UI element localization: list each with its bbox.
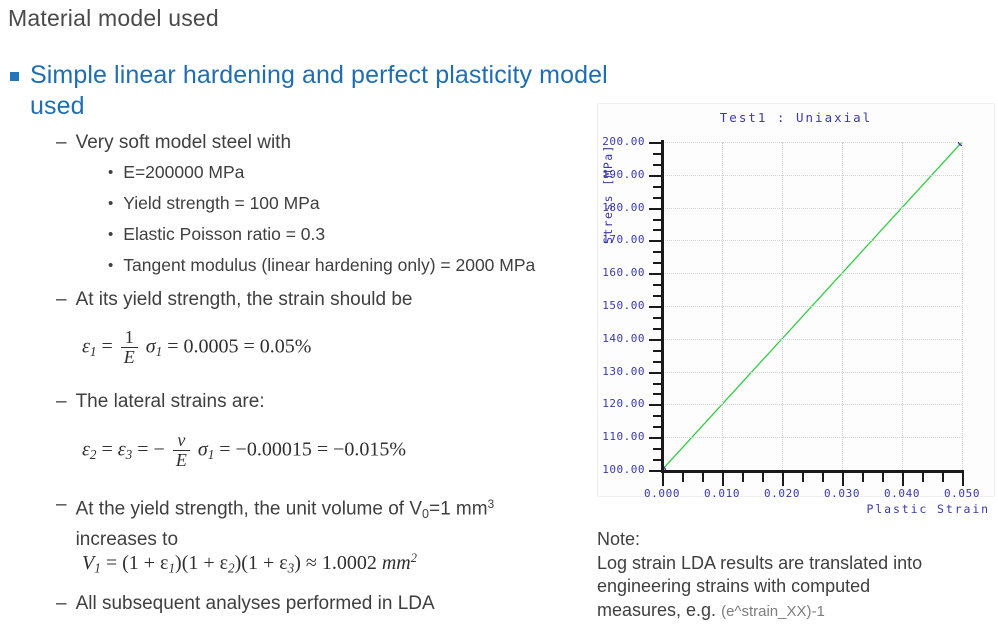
property-label: Tangent modulus (linear hardening only) … [123,254,535,277]
chart-y-tick-label: 170.00 [602,233,645,246]
chart-y-minor-tick [653,284,662,286]
eq3-v: V [82,552,94,574]
chart-gridline-horizontal [662,175,962,176]
chart-y-minor-tick [653,186,662,188]
volume-cont: increases to [76,529,178,550]
eq2-sigma: σ [198,439,208,461]
eq1-sigma-sub: 1 [156,344,163,359]
eq2-epsilon3: ε [118,439,126,461]
chart-x-tick [722,473,724,486]
chart-gridline-horizontal [662,142,962,143]
chart-gridline-horizontal [662,404,962,405]
chart-y-tick-label: 160.00 [602,266,645,279]
chart-x-axis-label: Plastic Strain [866,502,990,516]
chart-x-tick [962,473,964,486]
note-line-3: measures, e.g. (e^strain_XX)-1 [597,599,992,624]
chart-y-minor-tick [653,328,662,330]
page-title: Material model used [8,5,219,32]
chart-x-tick-label: 0.020 [764,487,800,500]
list-item: • Yield strength = 100 MPa [108,192,628,215]
eq3-unit-sup: 2 [411,551,417,565]
chart-y-tick-label: 150.00 [602,299,645,312]
eq1-epsilon-sub: 1 [90,344,97,359]
chart-y-tick [649,273,662,275]
eq1-fraction: 1 E [121,328,138,367]
chart-x-minor-tick [882,473,884,482]
chart-y-minor-tick [653,219,662,221]
chart-x-tick-label: 0.040 [884,487,920,500]
note-line-3-text: measures, e.g. [597,600,716,620]
chart-x-minor-tick [862,473,864,482]
chart-y-minor-tick [653,383,662,385]
dash-bullet-icon: – [56,389,67,414]
chart-y-minor-tick [653,262,662,264]
chart-y-minor-tick [653,448,662,450]
eq2-fraction: ν E [173,431,190,470]
chart-x-minor-tick [762,473,764,482]
sub-bullet-lda: – All subsequent analyses performed in L… [56,591,616,616]
eq1-equals: = [101,336,112,358]
chart-y-minor-tick [653,350,662,352]
equation-lateral-strain: ε2 = ε3 = − ν E σ1 = −0.00015 = −0.015% [82,431,406,470]
dot-bullet-icon: • [108,192,113,215]
eq3-sub2: 2 [228,561,235,576]
chart-x-minor-tick [822,473,824,482]
eq1-sigma: σ [146,336,156,358]
eq2-numerator: ν [173,431,190,450]
sub-bullet-label: At the yield strength, the unit volume o… [76,492,495,552]
chart-gridline-vertical [962,142,963,470]
chart-x-tick [842,473,844,486]
chart-y-tick [649,306,662,308]
chart-y-minor-tick [653,197,662,199]
chart-title: Test1 : Uniaxial [598,110,994,125]
chart-y-minor-tick [653,393,662,395]
volume-sub: 0 [422,507,429,521]
chart-y-tick-label: 120.00 [602,397,645,410]
eq1-numerator: 1 [121,328,138,347]
property-label: Yield strength = 100 MPa [123,192,319,215]
eq2-epsilon3-sub: 3 [126,447,133,462]
chart-gridline-horizontal [662,273,962,274]
eq2-equals-2: = − [137,439,165,461]
chart-gridline-horizontal [662,339,962,340]
chart-y-minor-tick [653,361,662,363]
eq2-epsilon2: ε [82,439,90,461]
chart-y-axis-label: Stress [MPa] [601,144,615,244]
chart-y-minor-tick [653,415,662,417]
chart-y-tick [649,437,662,439]
eq1-denominator: E [121,347,138,367]
chart-y-tick-label: 200.00 [602,135,645,148]
chart-gridline-horizontal [662,240,962,241]
chart-x-axis [661,470,964,473]
chart-y-minor-tick [653,459,662,461]
equation-axial-strain: ε1 = 1 E σ1 = 0.0005 = 0.05% [82,328,311,367]
chart-y-tick [649,142,662,144]
chart-y-minor-tick [653,317,662,319]
chart-x-tick [902,473,904,486]
chart-y-tick-label: 180.00 [602,201,645,214]
chart-y-tick-label: 100.00 [602,463,645,476]
chart-y-tick-label: 110.00 [602,430,645,443]
dot-bullet-icon: • [108,161,113,184]
eq2-result: = −0.00015 = −0.015% [219,439,406,461]
eq3-unit: mm [382,552,411,574]
list-item: • Tangent modulus (linear hardening only… [108,254,628,277]
property-label: Elastic Poisson ratio = 0.3 [123,223,325,246]
sub-bullet-lateral-strains: – The lateral strains are: [56,389,616,414]
eq2-epsilon2-sub: 2 [90,447,97,462]
chart-y-minor-tick [653,295,662,297]
chart-x-tick-label: 0.050 [944,487,980,500]
chart-gridline-horizontal [662,306,962,307]
main-bullet: Simple linear hardening and perfect plas… [10,60,610,122]
note-block: Note: Log strain LDA results are transla… [597,528,992,623]
chart-gridline-horizontal [662,208,962,209]
chart-x-tick-label: 0.010 [704,487,740,500]
square-bullet-icon [10,72,19,81]
chart-y-minor-tick [653,229,662,231]
chart-plot-area [662,142,962,470]
eq3-v-sub: 1 [94,561,101,576]
chart-y-minor-tick [653,153,662,155]
main-bullet-label: Simple linear hardening and perfect plas… [30,60,610,122]
sub-bullet-label: All subsequent analyses performed in LDA [76,591,435,616]
chart-y-minor-tick [653,426,662,428]
chart-x-tick [662,473,664,486]
sub-bullet-unit-volume: – At the yield strength, the unit volume… [56,492,616,552]
chart-x-minor-tick [942,473,944,482]
chart-y-minor-tick [653,164,662,166]
list-item: • Elastic Poisson ratio = 0.3 [108,223,628,246]
note-line-1: Log strain LDA results are translated in… [597,552,992,576]
eq1-result: = 0.0005 = 0.05% [167,336,311,358]
sub-bullet-label: At its yield strength, the strain should… [76,287,413,312]
sub-bullet-material: – Very soft model steel with [56,130,616,155]
eq3-body2: )(1 + ε [175,552,228,574]
chart-x-minor-tick [702,473,704,482]
sub-bullet-label: The lateral strains are: [76,389,265,414]
note-formula: (e^strain_XX)-1 [721,603,825,620]
eq2-equals-1: = [101,439,112,461]
note-heading: Note: [597,528,992,552]
chart-y-tick-label: 130.00 [602,365,645,378]
chart-x-tick-label: 0.030 [824,487,860,500]
dash-bullet-icon: – [56,492,67,517]
chart-x-minor-tick [922,473,924,482]
equation-volume: V1 = (1 + ε1)(1 + ε2)(1 + ε3) ≈ 1.0002 m… [82,551,417,577]
chart-y-minor-tick [653,251,662,253]
chart-y-tick [649,175,662,177]
chart-gridline-horizontal [662,372,962,373]
dash-bullet-icon: – [56,287,67,312]
chart-x-minor-tick [802,473,804,482]
chart-x-tick-label: 0.000 [644,487,680,500]
chart-gridline-horizontal [662,437,962,438]
volume-sup: 3 [488,498,495,511]
eq1-epsilon: ε [82,336,90,358]
chart-x-minor-tick [742,473,744,482]
chart-y-tick [649,372,662,374]
dash-bullet-icon: – [56,591,67,616]
sub-bullet-label: Very soft model steel with [76,130,291,155]
eq3-tail: ) ≈ 1.0002 [294,552,382,574]
eq3-body: = (1 + ε [106,552,169,574]
stress-strain-chart: Test1 : Uniaxial Stress [MPa] Plastic St… [597,103,995,497]
property-label: E=200000 MPa [123,161,244,184]
dot-bullet-icon: • [108,223,113,246]
eq3-body3: )(1 + ε [235,552,288,574]
chart-x-tick [782,473,784,486]
chart-y-tick [649,339,662,341]
chart-y-tick [649,470,662,472]
list-item: • E=200000 MPa [108,161,628,184]
eq2-sigma-sub: 1 [208,447,215,462]
chart-y-tick-label: 190.00 [602,168,645,181]
chart-y-tick [649,240,662,242]
volume-lead: At the yield strength, the unit volume o… [76,498,422,519]
dot-bullet-icon: • [108,254,113,277]
volume-mid: =1 mm [429,498,488,519]
note-line-2: engineering strains with computed [597,575,992,599]
chart-y-tick-label: 140.00 [602,332,645,345]
sub-bullet-yield-strain: – At its yield strength, the strain shou… [56,287,616,312]
chart-y-tick [649,404,662,406]
chart-y-tick [649,208,662,210]
dash-bullet-icon: – [56,130,67,155]
eq2-denominator: E [173,450,190,470]
chart-x-minor-tick [682,473,684,482]
